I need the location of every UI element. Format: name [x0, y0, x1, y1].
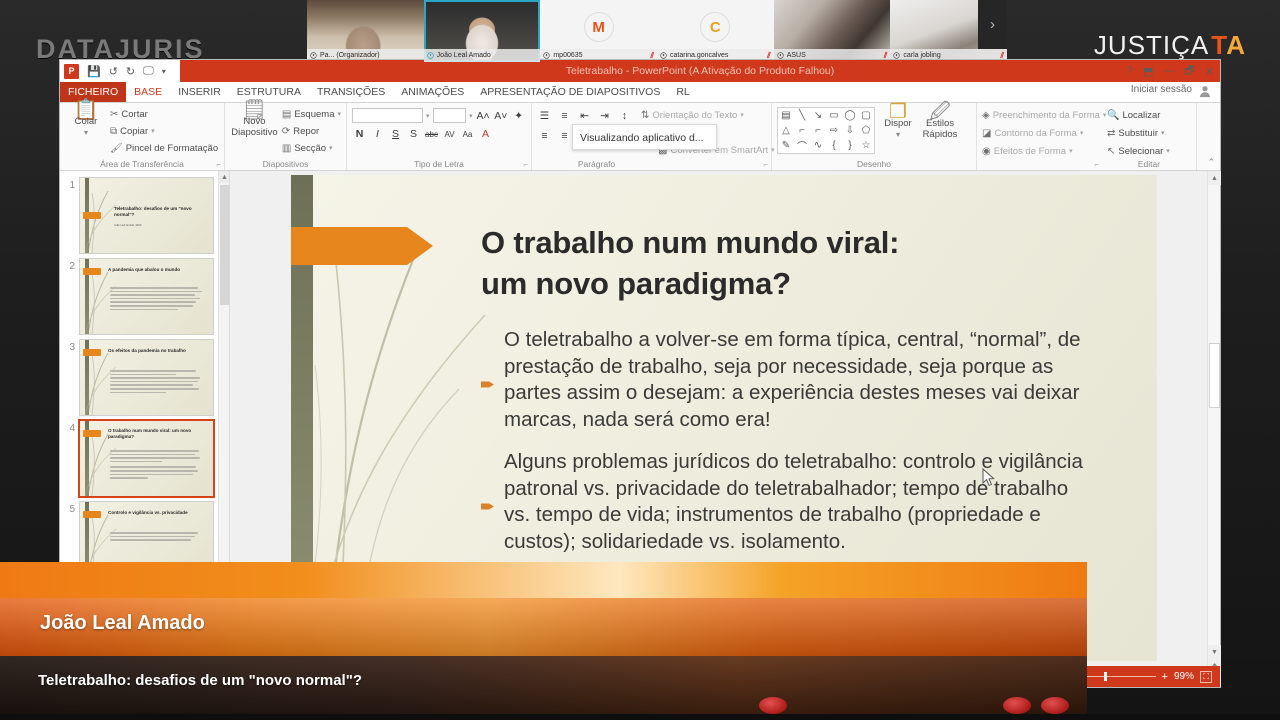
- shape-effects-icon: ◉: [982, 144, 991, 159]
- star-shape-icon[interactable]: ☆: [862, 140, 871, 151]
- participant-tile-active[interactable]: João Leal Amado: [424, 0, 541, 62]
- fit-slide-to-window-button[interactable]: ⛶: [1200, 671, 1212, 683]
- zoom-level-label: 99%: [1174, 671, 1194, 682]
- ribbon-group-slides: 🗒 Novo Diapositivo ▤Esquema▾ ⟳Repor ▥Sec…: [225, 103, 347, 170]
- ribbon-group-clipboard: 📋 Colar ▾ ✂Cortar ⧉Copiar▾ 🖌Pincel de Fo…: [60, 103, 225, 170]
- slide-number: 3: [64, 340, 75, 415]
- pentagon-shape-icon[interactable]: ⬠: [862, 125, 871, 136]
- mini-title: O trabalho num mundo viral: um novo para…: [108, 428, 208, 440]
- decorative-dot: [1041, 697, 1069, 714]
- align-left-icon[interactable]: ≡: [537, 130, 552, 142]
- bold-button[interactable]: N: [352, 128, 367, 140]
- shape-outline-button[interactable]: ◪Contorno da Forma▾: [982, 126, 1097, 141]
- start-show-icon[interactable]: 🖵: [143, 65, 154, 78]
- slide-scrollbar-thumb[interactable]: [1209, 343, 1220, 408]
- slide-preview-selected: O trabalho num mundo viral: um novo para…: [80, 421, 213, 496]
- slide-bullet-item: Alguns problemas jurídicos do teletrabal…: [481, 449, 1096, 555]
- justicatv-mark: TA: [1211, 30, 1246, 61]
- strikethrough-button[interactable]: abc: [424, 130, 439, 139]
- pointer-icon: ↖: [1107, 144, 1115, 159]
- slide-title: O trabalho num mundo viral: um novo para…: [481, 222, 1121, 304]
- window-title: Teletrabalho - PowerPoint (A Ativação do…: [180, 60, 1220, 82]
- screen-root: DATAJURIS JUSTIÇA TA Pa... (Organizador)…: [0, 0, 1280, 720]
- chevron-down-icon[interactable]: ▾: [469, 112, 473, 120]
- decrease-font-size-button[interactable]: A˅: [493, 110, 508, 122]
- line-spacing-icon[interactable]: ↕: [617, 110, 632, 122]
- format-painter-label: Pincel de Formatação: [126, 141, 218, 156]
- slide-bullet-item: O teletrabalho a volver-se em forma típi…: [481, 327, 1096, 433]
- ribbon-tabs: FICHEIRO BASE INSERIR ESTRUTURA TRANSIÇÕ…: [60, 82, 1220, 103]
- layout-label: Esquema: [294, 107, 334, 122]
- participant-tile[interactable]: ASUS ⫽: [774, 0, 891, 62]
- section-icon: ▥: [282, 141, 291, 156]
- increase-font-size-button[interactable]: A˄: [476, 110, 491, 122]
- copy-button[interactable]: ⧉Copiar▾: [110, 124, 218, 139]
- new-slide-icon: 🗒: [242, 105, 267, 116]
- participant-label: João Leal Amado: [437, 49, 491, 62]
- slide-body[interactable]: O teletrabalho a volver-se em forma típi…: [481, 327, 1096, 571]
- group-label-clipboard: Área de Transferência: [60, 159, 224, 169]
- next-participants-button[interactable]: ›: [978, 0, 1007, 49]
- font-color-button[interactable]: A: [478, 128, 493, 140]
- redo-icon[interactable]: ↻: [126, 65, 135, 78]
- justicatv-mark-a: A: [1226, 30, 1246, 60]
- layout-icon: ▤: [282, 107, 291, 122]
- mini-body-lines: [110, 287, 204, 312]
- ribbon-display-options-button[interactable]: ⬒: [1143, 65, 1153, 78]
- layout-button[interactable]: ▤Esquema▾: [282, 107, 341, 122]
- avatar: M: [584, 12, 614, 42]
- quick-styles-label: Estilos Rápidos: [921, 118, 959, 140]
- replace-icon: ⇄: [1107, 126, 1115, 141]
- mic-active-icon: [427, 52, 434, 59]
- paste-button[interactable]: 📋 Colar ▾: [65, 105, 107, 138]
- mini-accent-tag: [83, 212, 101, 219]
- justicatv-word: JUSTIÇA: [1094, 30, 1209, 61]
- curve-shape-icon[interactable]: ∿: [814, 140, 822, 151]
- text-shadow-button[interactable]: S: [406, 128, 421, 140]
- slide-thumbnail-1[interactable]: 1 Teletrabalho: desafios de um "novo nor…: [60, 175, 229, 256]
- mini-subtitle: João Leal Amado, 2020: [114, 224, 141, 227]
- shape-effects-button[interactable]: ◉Efeitos de Forma▾: [982, 144, 1097, 159]
- chevron-down-icon: ▾: [329, 141, 333, 156]
- arrange-button[interactable]: ❐ Dispor ▾: [881, 107, 915, 140]
- tab-inserir[interactable]: INSERIR: [170, 82, 229, 102]
- slide-bullet-text: Alguns problemas jurídicos do teletrabal…: [504, 449, 1096, 555]
- elbow-arrow-icon[interactable]: ⌐: [815, 125, 821, 136]
- align-center-icon[interactable]: ≡: [557, 130, 572, 142]
- mini-accent-tag: [83, 349, 101, 356]
- slide-thumbnail-4[interactable]: 4 O trabalho num mundo viral: um novo pa…: [60, 418, 229, 499]
- ribbon-group-drawing-formats: ◈Preenchimento da Forma▾ ◪Contorno da Fo…: [977, 103, 1102, 170]
- reset-button[interactable]: ⟳Repor: [282, 124, 341, 139]
- slide-preview: Teletrabalho: desafios de um "novo norma…: [80, 178, 213, 253]
- find-label: Localizar: [1122, 108, 1160, 123]
- banner-top-band: [0, 562, 1087, 598]
- speaker-name: João Leal Amado: [40, 612, 205, 635]
- shape-outline-label: Contorno da Forma: [994, 126, 1076, 141]
- reset-icon: ⟳: [282, 124, 290, 139]
- chevron-down-icon: ▾: [84, 127, 88, 138]
- thumbnail-scrollbar-thumb[interactable]: [220, 185, 229, 305]
- quick-styles-icon: 🖉: [929, 107, 950, 118]
- avatar: C: [700, 12, 730, 42]
- mini-body-lines: [110, 370, 204, 395]
- select-button[interactable]: ↖Selecionar▾: [1107, 144, 1191, 159]
- mini-title: Teletrabalho: desafios de um "novo norma…: [114, 206, 206, 218]
- slide-thumbnail-3[interactable]: 3 Os efeitos da pandemia no trabalho: [60, 337, 229, 418]
- group-label-drawing: Desenho: [772, 159, 976, 169]
- undo-icon[interactable]: ↺: [109, 65, 118, 78]
- participant-name-bar: João Leal Amado: [424, 49, 541, 62]
- shape-fill-label: Preenchimento da Forma: [993, 108, 1100, 123]
- shape-fill-button[interactable]: ◈Preenchimento da Forma▾: [982, 108, 1097, 123]
- font-name-input[interactable]: [352, 108, 423, 123]
- restore-button[interactable]: 🗗: [1184, 62, 1194, 81]
- avatar-initial: M: [592, 19, 605, 36]
- bottom-strip: [0, 714, 1280, 720]
- right-brace-shape-icon[interactable]: }: [848, 140, 851, 151]
- chevron-down-icon: ▾: [896, 129, 900, 140]
- lower-third-banner: João Leal Amado Teletrabalho: desafios d…: [0, 562, 1087, 720]
- copy-label: Copiar: [120, 124, 148, 139]
- left-brace-shape-icon[interactable]: {: [832, 140, 835, 151]
- mic-icon: [893, 52, 900, 59]
- chevron-down-icon[interactable]: ▾: [426, 112, 430, 120]
- slide-preview: A pandemia que abalou o mundo: [80, 259, 213, 334]
- quick-styles-button[interactable]: 🖉 Estilos Rápidos: [921, 107, 959, 140]
- font-size-input[interactable]: [433, 108, 467, 123]
- slide-bullet-text: O teletrabalho a volver-se em forma típi…: [504, 327, 1096, 433]
- chevron-down-icon: ▾: [1069, 144, 1073, 159]
- justicatv-mark-t: T: [1211, 30, 1226, 60]
- down-arrow-shape-icon[interactable]: ⇩: [846, 125, 854, 136]
- group-label-slides: Diapositivos: [225, 159, 346, 169]
- arc-shape-icon[interactable]: ⌒: [797, 138, 807, 153]
- elbow-connector-icon[interactable]: ⌐: [799, 125, 805, 136]
- replace-button[interactable]: ⇄Substituir▾: [1107, 126, 1191, 141]
- chevron-down-icon: ▾: [740, 108, 744, 123]
- arrow-shape-icon[interactable]: ↘: [814, 110, 822, 121]
- slide-preview: Os efeitos da pandemia no trabalho: [80, 340, 213, 415]
- participant-tile[interactable]: Pa... (Organizador): [307, 0, 424, 62]
- paragraph-dialog-launcher[interactable]: ⌐: [763, 160, 768, 169]
- decrease-indent-icon[interactable]: ⇤: [577, 110, 592, 122]
- title-bar: Teletrabalho - PowerPoint (A Ativação do…: [180, 60, 1220, 82]
- participant-strip: Pa... (Organizador) João Leal Amado M mp…: [307, 0, 1007, 62]
- reset-label: Repor: [293, 124, 319, 139]
- numbering-icon[interactable]: ≡: [557, 110, 572, 122]
- freeform-shape-icon[interactable]: ✎: [782, 140, 790, 151]
- slide-accent-arrow: [291, 227, 407, 265]
- mic-icon: [777, 52, 784, 59]
- paste-label: Colar: [75, 116, 98, 127]
- participant-tile[interactable]: C catarina.goncalves ⫽: [657, 0, 774, 62]
- decorative-dot: [759, 697, 787, 714]
- new-slide-label: Novo Diapositivo: [230, 116, 279, 138]
- mini-body-lines: [110, 450, 204, 481]
- new-slide-button[interactable]: 🗒 Novo Diapositivo: [230, 105, 279, 138]
- paintbrush-icon: 🖌: [110, 141, 123, 156]
- decorative-dots: [1003, 697, 1069, 714]
- slide-title-line-2: um novo paradigma?: [481, 263, 1121, 304]
- bullet-marker-icon: [481, 458, 495, 555]
- binoculars-icon: 🔍: [1107, 108, 1119, 123]
- shape-effects-label: Efeitos de Forma: [994, 144, 1066, 159]
- scroll-up-icon[interactable]: ▲: [1208, 171, 1221, 185]
- mouse-cursor-icon: [982, 468, 995, 487]
- zoom-slider-handle[interactable]: [1104, 672, 1107, 681]
- bullets-icon[interactable]: ☰: [537, 110, 552, 122]
- tab-estrutura[interactable]: ESTRUTURA: [229, 82, 309, 102]
- clipboard-icon: 📋: [74, 105, 99, 116]
- slide-thumbnail-2[interactable]: 2 A pandemia que abalou o mundo: [60, 256, 229, 337]
- chevron-down-icon: ▾: [1166, 144, 1170, 159]
- account-avatar-icon[interactable]: [1198, 84, 1212, 98]
- mini-accent-tag: [83, 511, 101, 518]
- powerpoint-logo-icon: P: [64, 64, 79, 79]
- find-button[interactable]: 🔍Localizar: [1107, 108, 1191, 123]
- scroll-up-icon[interactable]: ▲: [219, 171, 230, 183]
- ribbon: 📋 Colar ▾ ✂Cortar ⧉Copiar▾ 🖌Pincel de Fo…: [60, 103, 1220, 171]
- mic-icon: [310, 52, 317, 59]
- minimize-button[interactable]: —: [1163, 65, 1174, 77]
- text-direction-icon: ⇅: [641, 108, 649, 123]
- copy-icon: ⧉: [110, 124, 117, 139]
- mic-icon: [543, 52, 550, 59]
- save-icon[interactable]: 💾: [87, 65, 101, 78]
- slide-number: 1: [64, 178, 75, 253]
- slide-number: 4: [64, 421, 75, 496]
- shape-fill-icon: ◈: [982, 108, 990, 123]
- mini-body-lines: [110, 532, 204, 543]
- clear-formatting-icon[interactable]: ✦: [511, 110, 526, 122]
- tab-apresentacao-de-diapositivos[interactable]: APRESENTAÇÃO DE DIAPOSITIVOS: [472, 82, 668, 102]
- zoom-in-button[interactable]: +: [1162, 671, 1168, 683]
- line-shape-icon[interactable]: ╲: [799, 110, 805, 121]
- shapes-gallery[interactable]: ▤ ╲ ↘ ▭ ◯ ▢ △ ⌐ ⌐ ⇨ ⇩ ⬠ ✎ ⌒ ∿: [777, 107, 875, 154]
- slide-title-line-1: O trabalho num mundo viral:: [481, 222, 1121, 263]
- screen-share-tooltip: Visualizando aplicativo d...: [572, 124, 717, 150]
- increase-indent-icon[interactable]: ⇥: [597, 110, 612, 122]
- close-button[interactable]: ✕: [1205, 65, 1214, 78]
- customize-qat-icon[interactable]: ▾: [162, 67, 166, 76]
- collapse-ribbon-button[interactable]: ⌃: [1207, 157, 1215, 168]
- clipboard-dialog-launcher[interactable]: ⌐: [216, 160, 221, 169]
- scissors-icon: ✂: [110, 107, 118, 122]
- text-direction-button[interactable]: ⇅Orientação do Texto▾: [641, 108, 744, 123]
- mini-title: Os efeitos da pandemia no trabalho: [108, 348, 208, 354]
- chevron-down-icon: ▾: [337, 107, 341, 122]
- cut-button[interactable]: ✂Cortar: [110, 107, 218, 122]
- italic-button[interactable]: I: [370, 128, 385, 140]
- arrange-icon: ❐: [889, 107, 907, 118]
- ribbon-group-editing: 🔍Localizar ⇄Substituir▾ ↖Selecionar▾ Edi…: [1102, 103, 1197, 170]
- slide-scrollbar[interactable]: ▲ ▼ ⏶ ⏷: [1207, 171, 1220, 687]
- character-spacing-button[interactable]: AV: [442, 130, 457, 139]
- tab-transicoes[interactable]: TRANSIÇÕES: [309, 82, 393, 102]
- scroll-down-icon[interactable]: ▼: [1208, 645, 1221, 659]
- tab-base[interactable]: BASE: [126, 82, 170, 102]
- sign-in-link[interactable]: Iniciar sessão: [1131, 84, 1192, 95]
- cut-label: Cortar: [121, 107, 147, 122]
- mini-accent-tag: [83, 268, 101, 275]
- textbox-shape-icon[interactable]: ▤: [781, 110, 790, 121]
- chevron-down-icon: ▾: [1080, 126, 1084, 141]
- replace-label: Substituir: [1118, 126, 1158, 141]
- format-painter-button[interactable]: 🖌Pincel de Formatação: [110, 141, 218, 156]
- chevron-down-icon: ▾: [151, 124, 155, 139]
- group-label-editing: Editar: [1102, 159, 1196, 169]
- tab-animacoes[interactable]: ANIMAÇÕES: [393, 82, 472, 102]
- rounded-rect-shape-icon[interactable]: ▢: [861, 110, 870, 121]
- select-label: Selecionar: [1118, 144, 1163, 159]
- ribbon-group-drawing: ▤ ╲ ↘ ▭ ◯ ▢ △ ⌐ ⌐ ⇨ ⇩ ⬠ ✎ ⌒ ∿: [772, 103, 977, 170]
- help-button[interactable]: ?: [1127, 65, 1133, 77]
- chevron-down-icon: ▾: [1161, 126, 1165, 141]
- participant-tile[interactable]: M mp00635 ⫽: [540, 0, 657, 62]
- mini-title: A pandemia que abalou o mundo: [108, 267, 208, 273]
- mini-accent-tag: [83, 430, 101, 437]
- talk-title: Teletrabalho: desafios de um "novo norma…: [38, 672, 362, 689]
- change-case-button[interactable]: Aa: [460, 130, 475, 139]
- text-direction-label: Orientação do Texto: [652, 108, 737, 123]
- mini-title: Controlo e vigilância vs. privacidade: [108, 510, 208, 516]
- rectangle-shape-icon[interactable]: ▭: [829, 110, 838, 121]
- section-button[interactable]: ▥Secção▾: [282, 141, 341, 156]
- section-label: Secção: [294, 141, 326, 156]
- oval-shape-icon[interactable]: ◯: [844, 110, 855, 121]
- justicatv-logo: JUSTIÇA TA: [1094, 30, 1246, 61]
- tab-revisao[interactable]: RL: [668, 82, 697, 102]
- avatar-initial: C: [710, 19, 721, 36]
- triangle-shape-icon[interactable]: △: [782, 125, 790, 136]
- shape-outline-icon: ◪: [982, 126, 991, 141]
- decorative-dot: [1003, 697, 1031, 714]
- slide-number: 2: [64, 259, 75, 334]
- drawing-dialog-launcher[interactable]: ⌐: [1094, 160, 1099, 169]
- group-label-paragraph: Parágrafo: [422, 159, 771, 169]
- window-controls: ? ⬒ — 🗗 ✕: [1127, 60, 1214, 82]
- bullet-marker-icon: [481, 336, 495, 433]
- mic-icon: [660, 52, 667, 59]
- right-arrow-shape-icon[interactable]: ⇨: [830, 125, 838, 136]
- arrange-label: Dispor: [884, 118, 911, 129]
- quick-access-toolbar: Teletrabalho - PowerPoint (A Ativação do…: [60, 60, 1220, 82]
- underline-button[interactable]: S: [388, 128, 403, 140]
